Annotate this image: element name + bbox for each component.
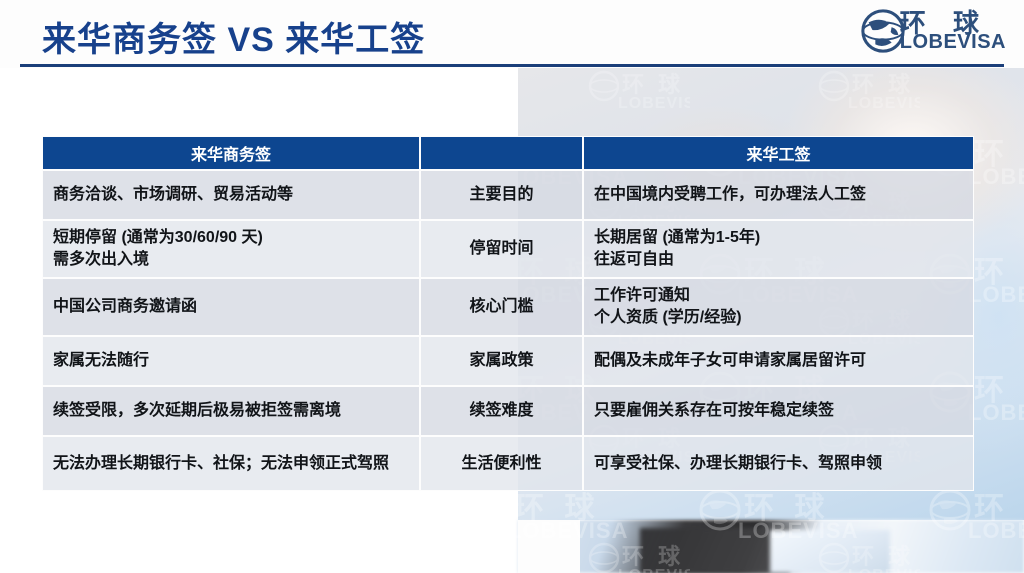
background-photo-bottom-margin bbox=[518, 520, 580, 573]
header-business-visa: 来华商务签 bbox=[42, 136, 420, 170]
cell-business-living: 无法办理长期银行卡、社保；无法申领正式驾照 bbox=[42, 436, 420, 491]
table-row: 无法办理长期银行卡、社保；无法申领正式驾照 生活便利性 可享受社保、办理长期银行… bbox=[42, 436, 974, 491]
photo-keyboard-shape bbox=[640, 528, 790, 573]
cell-work-threshold: 工作许可通知 个人资质 (学历/经验) bbox=[583, 278, 974, 336]
cell-criteria-threshold: 核心门槛 bbox=[420, 278, 583, 336]
slide-root: 环 球 LOBEVISA 环 球 LOBEVISA 来华商务签 VS 来华工签 bbox=[0, 0, 1024, 573]
table-row: 商务洽谈、市场调研、贸易活动等 主要目的 在中国境内受聘工作，可办理法人工签 bbox=[42, 170, 974, 220]
header-work-visa: 来华工签 bbox=[583, 136, 974, 170]
cell-work-living: 可享受社保、办理长期银行卡、驾照申领 bbox=[583, 436, 974, 491]
page-title: 来华商务签 VS 来华工签 bbox=[42, 12, 425, 61]
table-header-row: 来华商务签 来华工签 bbox=[42, 136, 974, 170]
header-criteria bbox=[420, 136, 583, 170]
table-row: 家属无法随行 家属政策 配偶及未成年子女可申请家属居留许可 bbox=[42, 336, 974, 386]
cell-business-renewal: 续签受限，多次延期后极易被拒签需离境 bbox=[42, 386, 420, 436]
brand-logo[interactable]: 环 球 LOBEVISA bbox=[860, 8, 1006, 54]
cell-business-purpose: 商务洽谈、市场调研、贸易活动等 bbox=[42, 170, 420, 220]
comparison-table: 来华商务签 来华工签 商务洽谈、市场调研、贸易活动等 主要目的 在中国境内受聘工… bbox=[42, 136, 974, 491]
title-divider bbox=[20, 64, 1004, 67]
cell-criteria-living: 生活便利性 bbox=[420, 436, 583, 491]
cell-criteria-renewal: 续签难度 bbox=[420, 386, 583, 436]
cell-work-renewal: 只要雇佣关系存在可按年稳定续签 bbox=[583, 386, 974, 436]
cell-criteria-duration: 停留时间 bbox=[420, 220, 583, 278]
cell-work-duration: 长期居留 (通常为1-5年) 往返可自由 bbox=[583, 220, 974, 278]
cell-work-family: 配偶及未成年子女可申请家属居留许可 bbox=[583, 336, 974, 386]
cell-criteria-family: 家属政策 bbox=[420, 336, 583, 386]
cell-criteria-purpose: 主要目的 bbox=[420, 170, 583, 220]
table-row: 续签受限，多次延期后极易被拒签需离境 续签难度 只要雇佣关系存在可按年稳定续签 bbox=[42, 386, 974, 436]
table-row: 短期停留 (通常为30/60/90 天) 需多次出入境 停留时间 长期居留 (通… bbox=[42, 220, 974, 278]
cell-work-purpose: 在中国境内受聘工作，可办理法人工签 bbox=[583, 170, 974, 220]
cell-business-family: 家属无法随行 bbox=[42, 336, 420, 386]
logo-en-text: LOBEVISA bbox=[900, 32, 1006, 52]
photo-sleeve-shape bbox=[770, 530, 890, 573]
cell-business-duration: 短期停留 (通常为30/60/90 天) 需多次出入境 bbox=[42, 220, 420, 278]
table-row: 中国公司商务邀请函 核心门槛 工作许可通知 个人资质 (学历/经验) bbox=[42, 278, 974, 336]
cell-business-threshold: 中国公司商务邀请函 bbox=[42, 278, 420, 336]
